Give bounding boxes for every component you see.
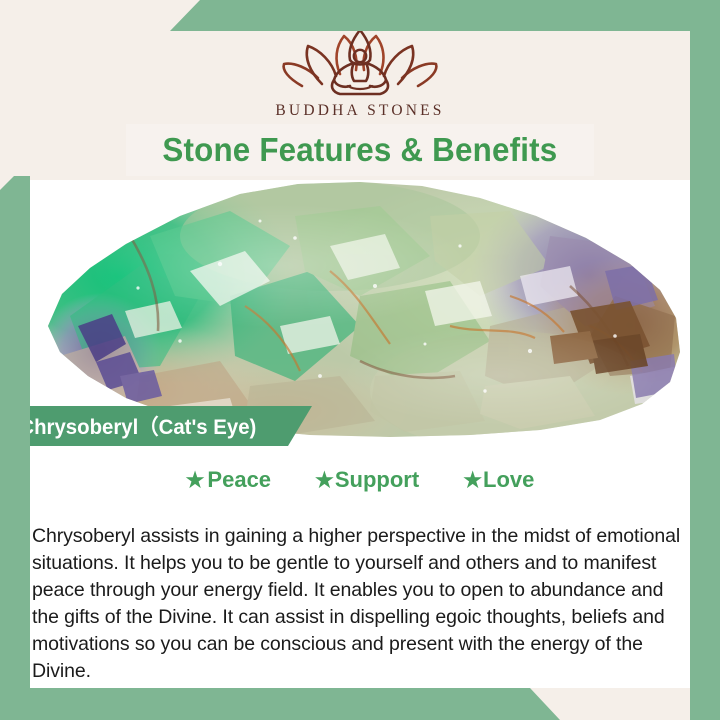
stone-name-label: Chrysoberyl（Cat's Eye) [0, 411, 256, 441]
star-icon: ★ [186, 470, 205, 491]
stone-description: Chrysoberyl assists in gaining a higher … [31, 523, 691, 685]
keyword-item-peace: ★ Peace [186, 467, 271, 493]
frame-border-right [690, 0, 720, 720]
brand-name: BUDDHA STONES [275, 102, 444, 120]
star-icon: ★ [463, 470, 482, 491]
keyword-item-support: ★ Support [315, 467, 419, 493]
keyword-label: Peace [207, 467, 271, 493]
star-icon: ★ [315, 470, 334, 491]
frame-border-bottom [0, 688, 720, 720]
keyword-label: Support [335, 467, 419, 493]
stone-photo [30, 176, 690, 440]
keyword-item-love: ★ Love [463, 467, 534, 493]
frame-border-left [0, 176, 30, 720]
brand-logo: BUDDHA STONES [0, 26, 720, 120]
page-title-band: Stone Features & Benefits [126, 124, 594, 176]
keyword-label: Love [483, 467, 534, 493]
stone-name-banner: Chrysoberyl（Cat's Eye) [0, 406, 312, 446]
keyword-list: ★ Peace ★ Support ★ Love [30, 462, 690, 498]
lotus-meditation-icon [278, 26, 442, 98]
page-title: Stone Features & Benefits [163, 131, 558, 169]
stone-info-card: BUDDHA STONES Stone Features & Benefits … [0, 0, 720, 720]
